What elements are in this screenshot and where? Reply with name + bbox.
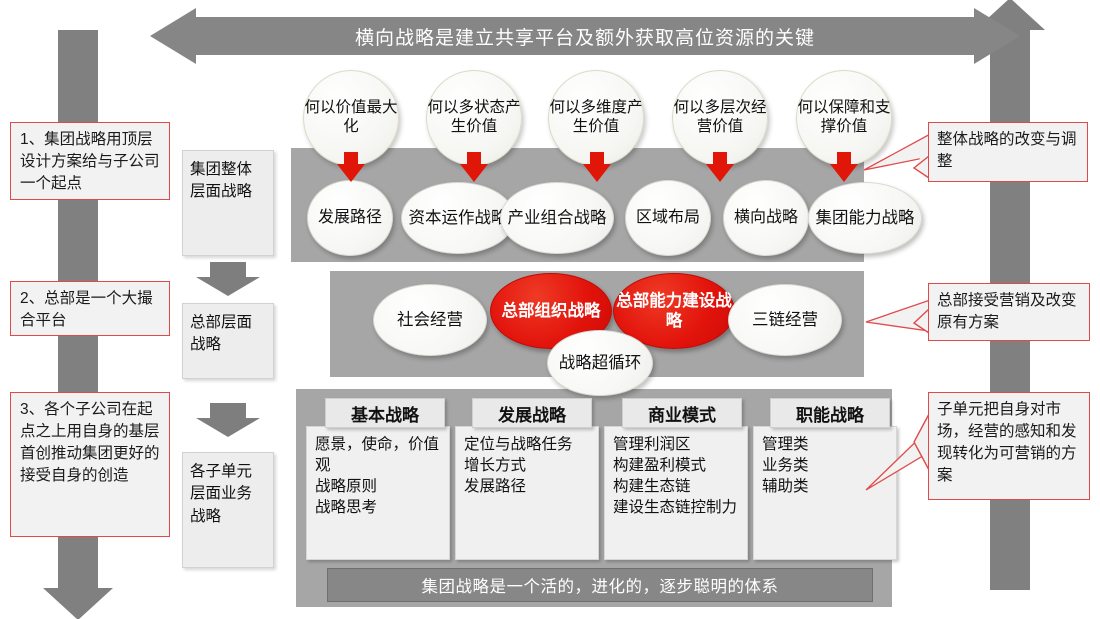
strategy-ellipse-horizontal: 横向战略 bbox=[723, 180, 809, 256]
right-callout-2: 总部接受营销及改变原有方案 bbox=[928, 283, 1090, 341]
left-callout-2: 2、总部是一个大撮合平台 bbox=[10, 281, 170, 336]
column-body-basic: 愿景，使命，价值观 战略原则 战略思考 bbox=[306, 426, 450, 560]
left-callout-1: 1、集团战略用顶层设计方案给与子公司一个起点 bbox=[10, 122, 170, 200]
arrow-head-down-icon bbox=[43, 588, 113, 619]
diagram-canvas: 横向战略是建立共享平台及额外获取高位资源的关键 1、集团战略用顶层设计方案给与子… bbox=[0, 0, 1100, 619]
column-body-functional: 管理类 业务类 辅助类 bbox=[753, 426, 897, 560]
red-arrow-3-icon bbox=[583, 152, 611, 182]
column-header-development: 发展战略 bbox=[472, 398, 592, 428]
hq-ellipse-strategy-hypercycle: 战略超循环 bbox=[547, 330, 653, 396]
column-body-development: 定位与战略任务 增长方式 发展路径 bbox=[455, 426, 599, 560]
tier-label-hq: 总部层面战略 bbox=[182, 303, 274, 379]
hq-ellipse-social-operation: 社会经营 bbox=[373, 284, 487, 356]
red-arrow-4-icon bbox=[706, 152, 734, 182]
right-callout-3: 子单元把自身对市场，经营的感知和发现转化为可营销的方案 bbox=[928, 392, 1090, 500]
strategy-ellipse-industry-portfolio: 产业组合战略 bbox=[500, 182, 614, 254]
top-banner-text: 横向战略是建立共享平台及额外获取高位资源的关键 bbox=[150, 8, 1020, 64]
column-header-functional: 职能战略 bbox=[770, 398, 890, 428]
top-banner: 横向战略是建立共享平台及额外获取高位资源的关键 bbox=[150, 8, 1020, 64]
bottom-banner-text: 集团战略是一个活的，进化的，逐步聪明的体系 bbox=[327, 568, 873, 602]
tier-arrow-1-icon bbox=[196, 262, 260, 296]
column-body-business-model: 管理利润区 构建盈利模式 构建生态链 建设生态链控制力 bbox=[604, 426, 748, 560]
column-header-business-model: 商业模式 bbox=[622, 398, 742, 428]
red-arrow-1-icon bbox=[337, 152, 365, 182]
column-header-basic: 基本战略 bbox=[325, 398, 445, 428]
strategy-ellipse-regional-layout: 区域布局 bbox=[625, 180, 711, 256]
tier-arrow-2-icon bbox=[196, 403, 260, 437]
tier-label-group: 集团整体层面战略 bbox=[182, 150, 274, 256]
red-arrow-2-icon bbox=[460, 152, 488, 182]
right-callout-1: 整体战略的改变与调整 bbox=[928, 122, 1088, 182]
strategy-ellipse-development-path: 发展路径 bbox=[307, 180, 393, 256]
hq-ellipse-three-chain-operation: 三链经营 bbox=[728, 284, 842, 356]
tier-label-unit: 各子单元层面业务战略 bbox=[182, 452, 274, 568]
strategy-ellipse-group-capability: 集团能力战略 bbox=[808, 182, 922, 254]
left-callout-3: 3、各个子公司在起点之上用自身的基层首创推动集团更好的接受自身的创造 bbox=[10, 392, 170, 537]
strategy-ellipse-capital-operation: 资本运作战略 bbox=[401, 182, 515, 254]
red-arrow-5-icon bbox=[830, 152, 858, 182]
